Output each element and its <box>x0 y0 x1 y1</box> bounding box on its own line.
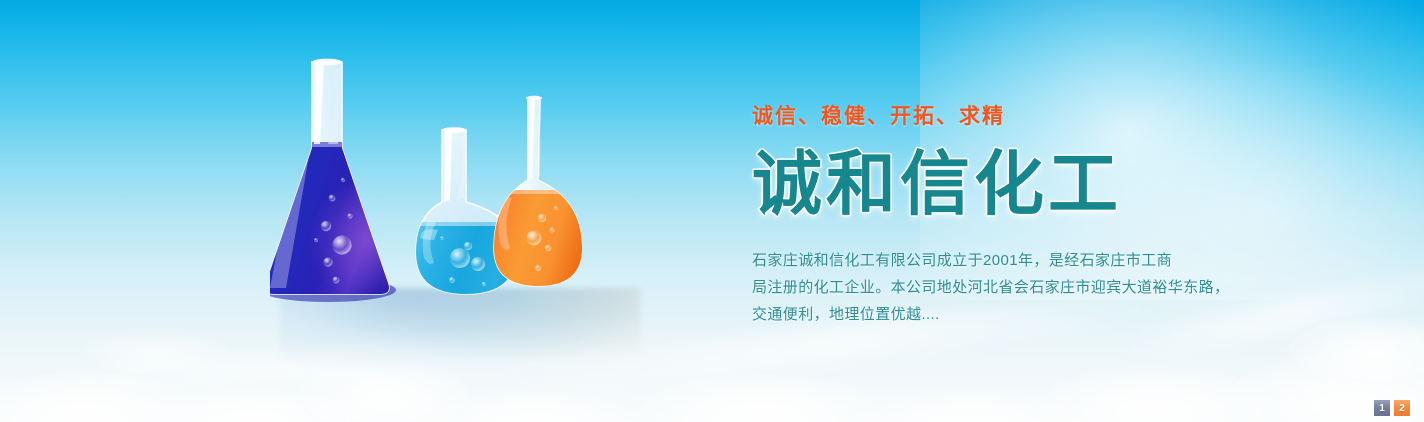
cloud-10 <box>80 330 230 374</box>
cloud-5 <box>640 374 880 422</box>
pagination-item-1[interactable]: 1 <box>1374 400 1390 416</box>
banner-description: 石家庄诚和信化工有限公司成立于2001年，是经石家庄市工商 局注册的化工企业。本… <box>752 247 1312 328</box>
banner-copy: 诚信、稳健、开拓、求精 诚和信化工 石家庄诚和信化工有限公司成立于2001年，是… <box>752 104 1312 328</box>
flasks-illustration <box>270 40 650 380</box>
hero-banner: 诚信、稳健、开拓、求精 诚和信化工 石家庄诚和信化工有限公司成立于2001年，是… <box>0 0 1424 422</box>
pear-shaped-flask <box>488 96 592 294</box>
description-line-2: 局注册的化工企业。本公司地处河北省会石家庄市迎宾大道裕华东路， <box>752 274 1312 301</box>
banner-headline: 诚和信化工 <box>752 147 1312 221</box>
cloud-4 <box>430 392 640 422</box>
flasks-svg <box>270 40 650 380</box>
banner-pagination: 1 2 <box>1374 400 1410 416</box>
cloud-1 <box>0 372 200 422</box>
cloud-2 <box>150 388 350 422</box>
description-line-3: 交通便利，地理位置优越.... <box>752 301 1312 328</box>
cloud-7 <box>1040 366 1270 422</box>
cloud-6 <box>860 392 1080 422</box>
erlenmeyer-flask <box>270 59 408 302</box>
pagination-item-2[interactable]: 2 <box>1394 400 1410 416</box>
banner-tagline: 诚信、稳健、开拓、求精 <box>752 104 1312 129</box>
description-line-1: 石家庄诚和信化工有限公司成立于2001年，是经石家庄市工商 <box>752 247 1312 274</box>
